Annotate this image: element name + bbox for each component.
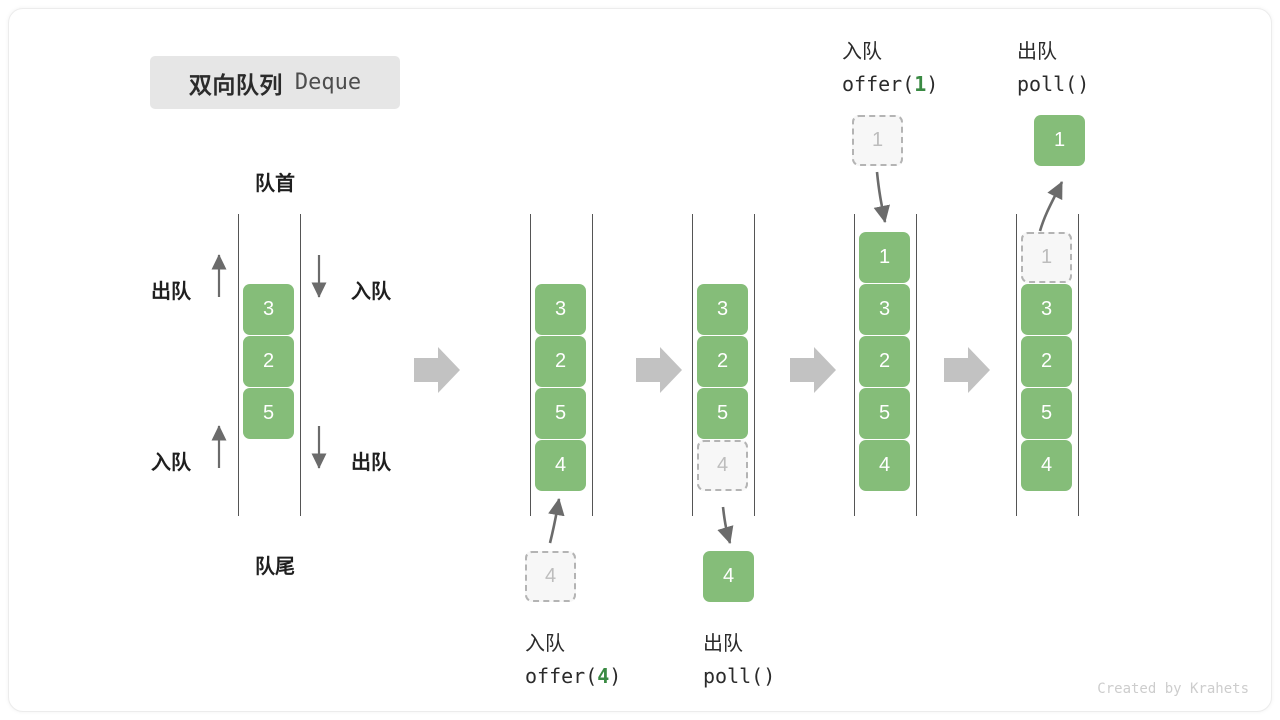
panel-5-op-code-suffix: ) xyxy=(1077,72,1089,96)
panel-3-op-code: poll() xyxy=(703,664,775,688)
panel-5-op-code: poll() xyxy=(1017,72,1089,96)
panel-3-op-label: 出队 xyxy=(703,627,743,656)
arrows-overlay xyxy=(9,9,1272,712)
panel-4-offer-arrow xyxy=(877,172,885,222)
title-english: Deque xyxy=(295,70,361,95)
panel-4-rail-right xyxy=(916,214,917,516)
panel-3-item-3: 4 xyxy=(697,440,748,491)
panel-3-item-1: 2 xyxy=(697,336,748,387)
panel-1-head-caption: 队首 xyxy=(247,167,303,196)
panel-4-op-label: 入队 xyxy=(842,35,882,64)
panel-2-op-label: 入队 xyxy=(525,627,565,656)
diagram-canvas: 双向队列 Deque 队首 队尾 3 2 5 出队 入队 入队 出队 3 2 5… xyxy=(8,8,1272,712)
panel-4-item-1: 3 xyxy=(859,284,910,335)
title-chinese: 双向队列 xyxy=(189,66,283,100)
panel-3-poll-arrow xyxy=(723,507,730,543)
panel-1-label-bottom-right: 出队 xyxy=(351,446,391,475)
panel-1-item-2: 5 xyxy=(243,388,294,439)
panel-4-item-4: 4 xyxy=(859,440,910,491)
panel-4-op-code: offer(1) xyxy=(842,72,938,96)
panel-3-rail-right xyxy=(754,214,755,516)
panel-1-tail-caption: 队尾 xyxy=(247,550,303,579)
panel-3-item-2: 5 xyxy=(697,388,748,439)
panel-2-item-3: 4 xyxy=(535,440,586,491)
panel-5-op-label: 出队 xyxy=(1017,35,1057,64)
panel-2-rail-left xyxy=(530,214,531,516)
panel-3-op-code-prefix: poll( xyxy=(703,664,763,688)
panel-4-rail-left xyxy=(854,214,855,516)
panel-5-item-3: 5 xyxy=(1021,388,1072,439)
panel-2-rail-right xyxy=(592,214,593,516)
panel-2-item-2: 5 xyxy=(535,388,586,439)
panel-2-op-code-suffix: ) xyxy=(609,664,621,688)
panel-3-op-code-suffix: ) xyxy=(763,664,775,688)
diagram-title-badge: 双向队列 Deque xyxy=(150,56,400,109)
panel-5-op-code-prefix: poll( xyxy=(1017,72,1077,96)
step-arrow-3 xyxy=(790,347,836,393)
panel-5-external-box: 1 xyxy=(1034,115,1085,166)
panel-1-item-0: 3 xyxy=(243,284,294,335)
panel-2-item-1: 2 xyxy=(535,336,586,387)
step-arrow-2 xyxy=(636,347,682,393)
panel-2-op-code-num: 4 xyxy=(597,664,609,688)
step-arrow-4 xyxy=(944,347,990,393)
panel-4-op-code-suffix: ) xyxy=(926,72,938,96)
panel-4-item-0: 1 xyxy=(859,232,910,283)
panel-5-item-0: 1 xyxy=(1021,232,1072,283)
panel-4-op-code-num: 1 xyxy=(914,72,926,96)
panel-1-item-1: 2 xyxy=(243,336,294,387)
panel-5-item-2: 2 xyxy=(1021,336,1072,387)
step-arrow-1 xyxy=(414,347,460,393)
panel-1-label-top-right: 入队 xyxy=(351,275,391,304)
panel-3-item-0: 3 xyxy=(697,284,748,335)
panel-5-poll-arrow xyxy=(1040,182,1062,231)
panel-2-external-box: 4 xyxy=(525,551,576,602)
panel-1-label-bottom-left: 入队 xyxy=(151,446,191,475)
panel-5-item-4: 4 xyxy=(1021,440,1072,491)
panel-2-offer-arrow xyxy=(550,499,559,543)
panel-4-item-3: 5 xyxy=(859,388,910,439)
panel-5-rail-right xyxy=(1078,214,1079,516)
panel-5-rail-left xyxy=(1016,214,1017,516)
panel-1-label-top-left: 出队 xyxy=(151,275,191,304)
panel-3-external-box: 4 xyxy=(703,551,754,602)
panel-1-rail-right xyxy=(300,214,301,516)
panel-2-op-code: offer(4) xyxy=(525,664,621,688)
credit-text: Created by Krahets xyxy=(1097,681,1249,697)
panel-2-op-code-prefix: offer( xyxy=(525,664,597,688)
panel-4-op-code-prefix: offer( xyxy=(842,72,914,96)
panel-4-item-2: 2 xyxy=(859,336,910,387)
panel-3-rail-left xyxy=(692,214,693,516)
panel-5-item-1: 3 xyxy=(1021,284,1072,335)
panel-2-item-0: 3 xyxy=(535,284,586,335)
panel-4-external-box: 1 xyxy=(852,115,903,166)
panel-1-rail-left xyxy=(238,214,239,516)
